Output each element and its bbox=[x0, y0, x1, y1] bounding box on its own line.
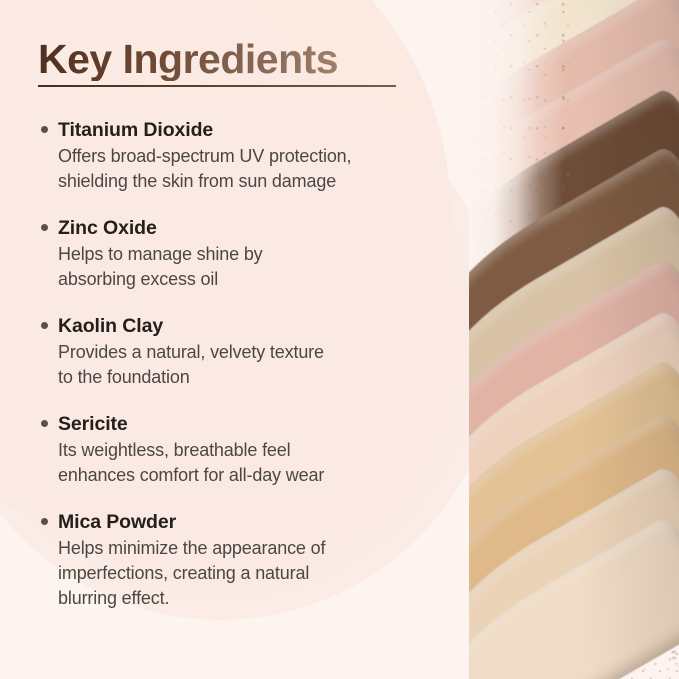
powder-streak-stack bbox=[469, 0, 679, 679]
ingredient-description: Helps minimize the appearance of imperfe… bbox=[58, 536, 448, 610]
ingredient-description: Provides a natural, velvety texture to t… bbox=[58, 340, 448, 390]
ingredient-name: Sericite bbox=[58, 412, 448, 437]
powder-swatch-image bbox=[469, 0, 679, 679]
content-column: Key Ingredients Titanium DioxideOffers b… bbox=[0, 0, 470, 679]
bullet-icon bbox=[41, 224, 48, 231]
ingredient-name: Zinc Oxide bbox=[58, 216, 448, 241]
ingredient-description: Offers broad-spectrum UV protection, shi… bbox=[58, 144, 448, 194]
bullet-icon bbox=[41, 126, 48, 133]
ingredient-item: Zinc OxideHelps to manage shine by absor… bbox=[38, 216, 448, 292]
ingredient-item: SericiteIts weightless, breathable feel … bbox=[38, 412, 448, 488]
page-title: Key Ingredients bbox=[38, 38, 438, 81]
title-underline bbox=[38, 85, 396, 87]
ingredient-list: Titanium DioxideOffers broad-spectrum UV… bbox=[38, 118, 448, 611]
ingredient-description: Its weightless, breathable feel enhances… bbox=[58, 438, 448, 488]
bullet-icon bbox=[41, 518, 48, 525]
bullet-icon bbox=[41, 420, 48, 427]
ingredient-name: Kaolin Clay bbox=[58, 314, 448, 339]
ingredient-item: Titanium DioxideOffers broad-spectrum UV… bbox=[38, 118, 448, 194]
ingredient-description: Helps to manage shine by absorbing exces… bbox=[58, 242, 448, 292]
ingredient-item: Kaolin ClayProvides a natural, velvety t… bbox=[38, 314, 448, 390]
title-block: Key Ingredients bbox=[38, 38, 438, 87]
ingredient-name: Titanium Dioxide bbox=[58, 118, 448, 143]
ingredient-item: Mica PowderHelps minimize the appearance… bbox=[38, 510, 448, 611]
ingredients-infographic: Key Ingredients Titanium DioxideOffers b… bbox=[0, 0, 679, 679]
bullet-icon bbox=[41, 322, 48, 329]
ingredient-name: Mica Powder bbox=[58, 510, 448, 535]
